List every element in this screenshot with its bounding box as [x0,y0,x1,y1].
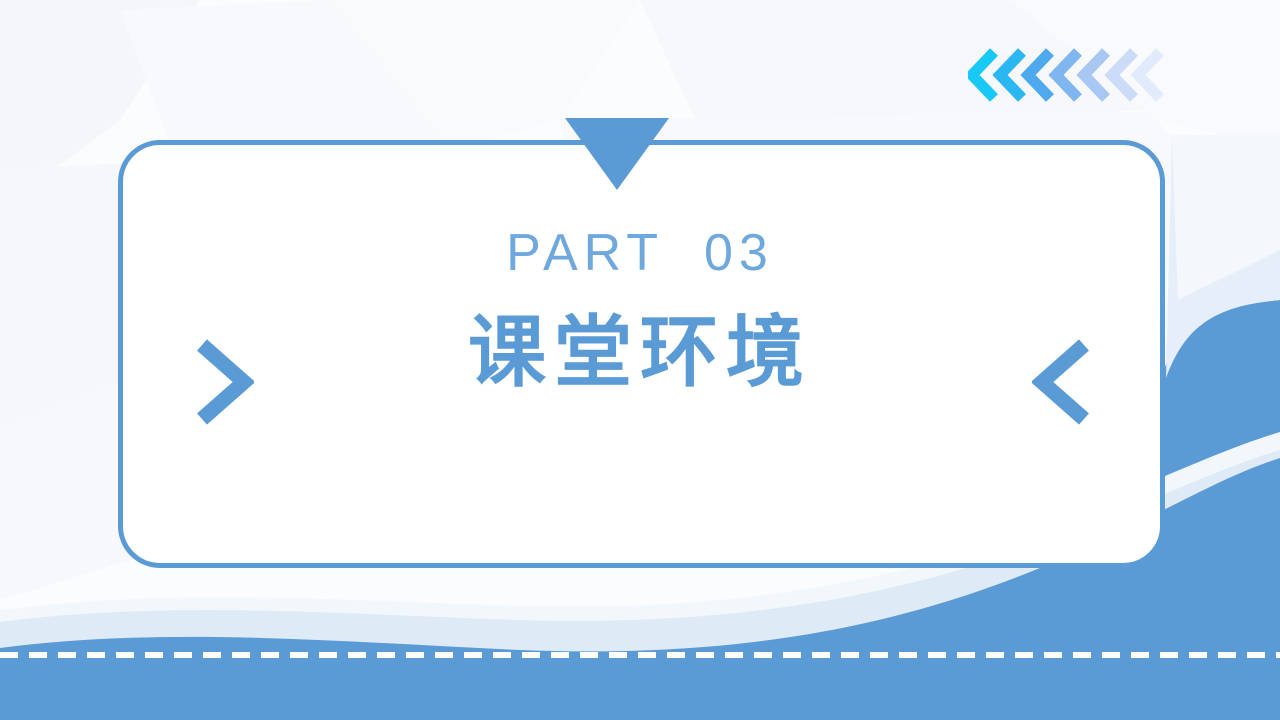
section-title: 课堂环境 [0,306,1280,398]
chevron-strip [968,44,1164,106]
title-block: PART 03 课堂环境 [0,222,1280,398]
dashed-road-line [0,652,1280,658]
slide-canvas: PART 03 课堂环境 [0,0,1280,720]
part-label: PART 03 [0,222,1280,284]
triangle-down-pointer [565,118,669,190]
